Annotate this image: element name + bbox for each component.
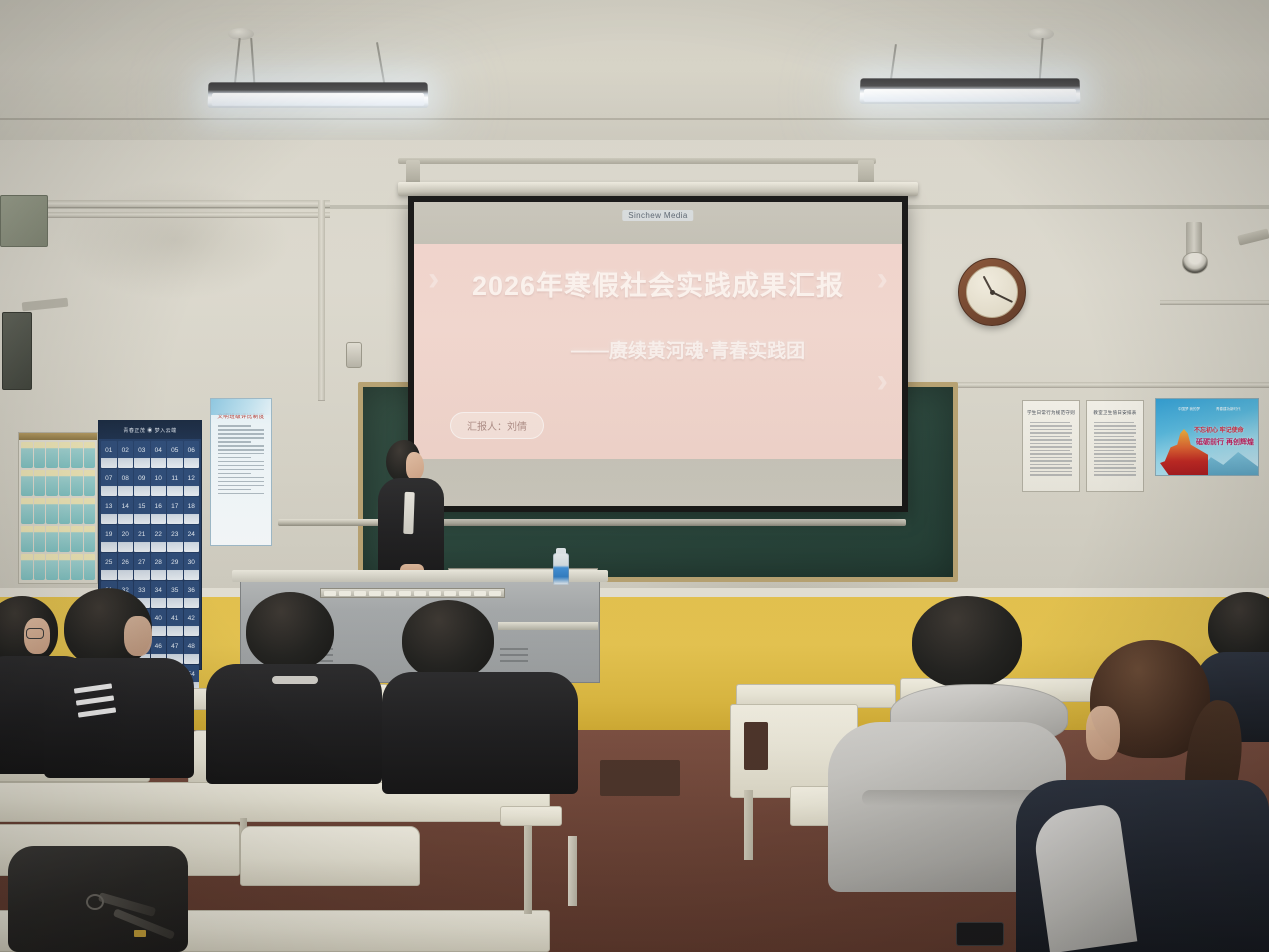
pocket-cell: 30 xyxy=(184,553,200,580)
poster-text-line xyxy=(218,477,264,479)
pocket-cell: 12 xyxy=(184,469,200,496)
pocket-cell: 05 xyxy=(167,441,183,468)
pocket-cell: 11 xyxy=(167,469,183,496)
podium-control-key[interactable] xyxy=(414,591,426,596)
pocket-cell: 42 xyxy=(184,609,200,636)
poster-text-line xyxy=(218,433,264,435)
pocket-cell: 27 xyxy=(134,553,150,580)
slide-title: 2026年寒假社会实践成果汇报 xyxy=(414,264,902,303)
pocket-cell: 25 xyxy=(101,553,117,580)
podium-control-panel[interactable] xyxy=(320,588,505,598)
bench-seat xyxy=(240,826,420,886)
towel-item xyxy=(59,442,71,468)
poster-text-line xyxy=(1094,439,1136,440)
conduit-camera-line xyxy=(1160,300,1269,304)
pocket-cell: 35 xyxy=(167,581,183,608)
poster-text-line xyxy=(1030,457,1072,458)
notice-poster-left: 文明班级评比制度 xyxy=(210,398,272,546)
student-hair xyxy=(402,600,494,680)
poster-text-line xyxy=(1030,443,1072,444)
podium-top-surface xyxy=(232,570,608,582)
conduit-vertical xyxy=(318,200,325,400)
poster-text-line xyxy=(1094,460,1136,461)
podium-control-key[interactable] xyxy=(444,591,456,596)
poster-text-line xyxy=(1094,471,1136,472)
towel-item xyxy=(34,554,46,580)
desk-cutout xyxy=(744,722,768,770)
poster-wave-decor xyxy=(211,399,271,415)
student-hair xyxy=(246,592,334,670)
towel-item xyxy=(21,470,33,496)
projector-screen-casing xyxy=(398,182,918,196)
podium-vent-4 xyxy=(500,648,528,650)
podium-control-key[interactable] xyxy=(459,591,471,596)
poster-text-line xyxy=(1094,443,1136,444)
poster-text-line xyxy=(1094,436,1134,437)
towel-row xyxy=(19,497,97,525)
podium-control-key[interactable] xyxy=(339,591,351,596)
pocket-cell: 06 xyxy=(184,441,200,468)
poster-text-line xyxy=(1094,474,1136,475)
pocket-cell: 03 xyxy=(134,441,150,468)
towel-item xyxy=(21,526,33,552)
towel-item xyxy=(34,442,46,468)
poster-building-decor xyxy=(1160,429,1208,475)
slide-subtitle: ——赓续黄河魂·青春实践团 xyxy=(414,336,902,363)
towel-item xyxy=(21,442,33,468)
poster-text-line xyxy=(1094,467,1136,468)
poster-text-line xyxy=(1094,432,1136,433)
towel-item xyxy=(84,554,96,580)
towel-item xyxy=(34,498,46,524)
poster-small-left: 中国梦 我的梦 xyxy=(1178,407,1200,412)
towel-item xyxy=(71,498,83,524)
pocket-cell: 14 xyxy=(118,497,134,524)
water-bottle xyxy=(553,553,569,585)
poster-text-line xyxy=(1030,450,1070,451)
towel-row xyxy=(19,469,97,497)
wall-sensor xyxy=(346,342,362,368)
poster-text-line xyxy=(218,425,251,427)
podium-control-key[interactable] xyxy=(474,591,486,596)
student-hair xyxy=(912,596,1022,688)
rule-poster-2: 教室卫生值日安排表 xyxy=(1086,400,1144,492)
poster-text-line xyxy=(1094,422,1134,423)
poster-text-line xyxy=(218,449,264,451)
desk-leg xyxy=(524,824,532,914)
podium-lower-shelf xyxy=(498,622,598,630)
towel-rack-rail xyxy=(19,433,97,440)
pocket-cell: 48 xyxy=(184,637,200,664)
pocket-cell: 34 xyxy=(151,581,167,608)
poster-text-line xyxy=(1030,471,1072,472)
pocket-cell: 28 xyxy=(151,553,167,580)
student-collar xyxy=(272,676,318,684)
poster-text-line xyxy=(218,461,264,463)
backpack-on-desk xyxy=(8,846,188,952)
towel-item xyxy=(84,442,96,468)
poster-text-line xyxy=(218,437,264,439)
glasses-icon xyxy=(26,628,44,639)
classroom-scene: › › › 2026年寒假社会实践成果汇报 ——赓续黄河魂·青春实践团 汇报人：… xyxy=(0,0,1269,952)
student-face xyxy=(1086,706,1120,760)
podium-vent-6 xyxy=(500,660,528,662)
poster-text-line xyxy=(1094,450,1134,451)
student-jacket xyxy=(44,658,194,778)
pocket-cell: 09 xyxy=(134,469,150,496)
presenter-shirt-front xyxy=(403,492,414,534)
poster-text-line xyxy=(1030,474,1072,475)
poster-text-line xyxy=(1030,432,1072,433)
towel-item xyxy=(71,554,83,580)
poster-text-line xyxy=(218,445,264,447)
podium-control-key[interactable] xyxy=(324,591,336,596)
towel-row xyxy=(19,525,97,553)
rule-poster-1-body xyxy=(1023,422,1079,476)
dome-security-camera xyxy=(1182,252,1208,274)
poster-line-2: 砥砺前行 再创辉煌 xyxy=(1196,437,1254,447)
rule-poster-2-title: 教室卫生值日安排表 xyxy=(1087,410,1143,416)
backpack-buckle xyxy=(134,930,146,937)
screen-bracket-left xyxy=(406,160,420,184)
pocket-cell: 24 xyxy=(184,525,200,552)
ceiling-led-panel-right xyxy=(860,78,1081,103)
propaganda-poster: 中国梦 我的梦 青春建功新时代 不忘初心 牢记使命 砥砺前行 再创辉煌 xyxy=(1155,398,1259,476)
conduit-horizontal-right xyxy=(950,382,1269,387)
towel-item xyxy=(71,442,83,468)
podium-control-key[interactable] xyxy=(369,591,381,596)
poster-text-line xyxy=(218,469,264,471)
poster-text-line xyxy=(218,441,251,443)
poster-text-line xyxy=(218,465,264,467)
poster-line-1: 不忘初心 牢记使命 xyxy=(1194,425,1244,434)
poster-text-line xyxy=(1030,425,1072,426)
towel-item xyxy=(34,526,46,552)
towel-item xyxy=(46,498,58,524)
pocket-cell: 18 xyxy=(184,497,200,524)
poster-text-line xyxy=(1094,453,1136,454)
notice-poster-body xyxy=(211,425,271,494)
pocket-cell: 20 xyxy=(118,525,134,552)
podium-control-key[interactable] xyxy=(489,591,501,596)
poster-text-line xyxy=(1030,446,1072,447)
pocket-cell: 15 xyxy=(134,497,150,524)
towel-item xyxy=(46,442,58,468)
pocket-cell: 17 xyxy=(167,497,183,524)
podium-control-key[interactable] xyxy=(429,591,441,596)
projection-screen[interactable]: › › › 2026年寒假社会实践成果汇报 ——赓续黄河魂·青春实践团 汇报人：… xyxy=(408,196,908,512)
chevron-right-decor-2: › xyxy=(877,364,888,398)
slide-bottom-band xyxy=(414,459,902,506)
student-jacket xyxy=(382,672,578,794)
conduit-horizontal-left xyxy=(0,200,330,207)
podium-control-key[interactable] xyxy=(354,591,366,596)
towel-row xyxy=(19,441,97,469)
wall-clock xyxy=(958,258,1026,326)
poster-text-line xyxy=(1094,425,1136,426)
slide-top-band xyxy=(414,202,902,244)
towel-item xyxy=(71,470,83,496)
pocket-cell: 41 xyxy=(167,609,183,636)
clock-center-pin xyxy=(990,290,995,295)
poster-text-line xyxy=(1030,464,1070,465)
rule-poster-1: 学生日常行为规范守则 xyxy=(1022,400,1080,492)
poster-text-line xyxy=(1094,429,1136,430)
poster-text-line xyxy=(218,453,264,455)
watermark-label: Sinchew Media xyxy=(622,210,693,221)
poster-text-line xyxy=(218,429,264,431)
pocket-cell: 07 xyxy=(101,469,117,496)
pocket-cell: 02 xyxy=(118,441,134,468)
ceiling xyxy=(0,0,1269,150)
towel-item xyxy=(46,554,58,580)
ceiling-led-panel-left xyxy=(208,82,429,107)
slide-content-area: › › › 2026年寒假社会实践成果汇报 ——赓续黄河魂·青春实践团 汇报人：… xyxy=(414,244,902,459)
pocket-cell: 13 xyxy=(101,497,117,524)
water-bottle-cap xyxy=(556,548,566,554)
pocket-cell: 10 xyxy=(151,469,167,496)
poster-text-line xyxy=(218,457,251,459)
pocket-cell: 29 xyxy=(167,553,183,580)
pocket-cell: 22 xyxy=(151,525,167,552)
rule-poster-2-body xyxy=(1087,422,1143,476)
towel-rack-board xyxy=(18,432,98,584)
towel-item xyxy=(84,498,96,524)
podium-vent-5 xyxy=(500,654,528,656)
wall-stain-1 xyxy=(60,180,290,300)
poster-text-line xyxy=(218,489,251,491)
backpack-ring xyxy=(86,894,104,910)
pocket-cell: 26 xyxy=(118,553,134,580)
poster-text-line xyxy=(1030,422,1070,423)
student-desk xyxy=(500,806,562,826)
towel-item xyxy=(34,470,46,496)
poster-text-line xyxy=(1030,453,1072,454)
towel-item xyxy=(59,526,71,552)
towel-item xyxy=(21,498,33,524)
poster-text-line xyxy=(218,493,264,495)
poster-text-line xyxy=(1030,439,1072,440)
poster-text-line xyxy=(1094,464,1134,465)
towel-item xyxy=(46,470,58,496)
conduit-horizontal-left-2 xyxy=(0,212,330,217)
screen-surface: › › › 2026年寒假社会实践成果汇报 ——赓续黄河魂·青春实践团 汇报人：… xyxy=(414,202,902,506)
student-face xyxy=(124,616,152,656)
towel-item xyxy=(71,526,83,552)
desk-leg xyxy=(744,790,753,860)
poster-text-line xyxy=(1094,457,1136,458)
ceiling-seam xyxy=(0,118,1269,120)
pocket-cell: 36 xyxy=(184,581,200,608)
poster-text-line xyxy=(1030,436,1070,437)
phone-on-desk[interactable] xyxy=(956,922,1004,946)
pocket-cell: 19 xyxy=(101,525,117,552)
poster-small-right: 青春建功新时代 xyxy=(1216,407,1241,412)
poster-text-line xyxy=(1030,467,1072,468)
wall-speaker xyxy=(2,312,32,390)
poster-text-line xyxy=(1094,446,1136,447)
podium-control-key[interactable] xyxy=(399,591,411,596)
poster-text-line xyxy=(218,485,264,487)
podium-control-key[interactable] xyxy=(384,591,396,596)
towel-item xyxy=(59,554,71,580)
electrical-junction-box xyxy=(0,195,48,247)
pocket-cell: 01 xyxy=(101,441,117,468)
pocket-cell: 21 xyxy=(134,525,150,552)
desk-leg xyxy=(568,836,577,906)
puffer-seam xyxy=(862,790,1042,806)
towel-item xyxy=(84,526,96,552)
rule-poster-1-title: 学生日常行为规范守则 xyxy=(1023,410,1079,416)
chalk-tray xyxy=(278,519,906,526)
towel-item xyxy=(21,554,33,580)
poster-text-line xyxy=(218,473,251,475)
towel-item xyxy=(59,498,71,524)
pocket-header-text: 青春正茂 ◉ 梦入云端 xyxy=(123,427,176,434)
floor-shadow-panel xyxy=(600,760,680,796)
pocket-cell: 04 xyxy=(151,441,167,468)
poster-text-line xyxy=(218,481,264,483)
presenter-face xyxy=(406,452,424,480)
pocket-cell: 08 xyxy=(118,469,134,496)
towel-item xyxy=(84,470,96,496)
towel-item xyxy=(59,470,71,496)
poster-text-line xyxy=(1030,460,1072,461)
pocket-organizer-header: 青春正茂 ◉ 梦入云端 xyxy=(99,421,201,439)
clock-face xyxy=(966,266,1018,318)
screen-support-rail xyxy=(398,158,876,164)
pocket-cell: 40 xyxy=(151,609,167,636)
pocket-cell: 23 xyxy=(167,525,183,552)
presenter-badge: 汇报人：刘倩 xyxy=(450,412,544,439)
poster-text-line xyxy=(1030,429,1072,430)
pocket-cell: 16 xyxy=(151,497,167,524)
towel-row xyxy=(19,553,97,581)
towel-item xyxy=(46,526,58,552)
camera-bracket xyxy=(1186,222,1202,256)
